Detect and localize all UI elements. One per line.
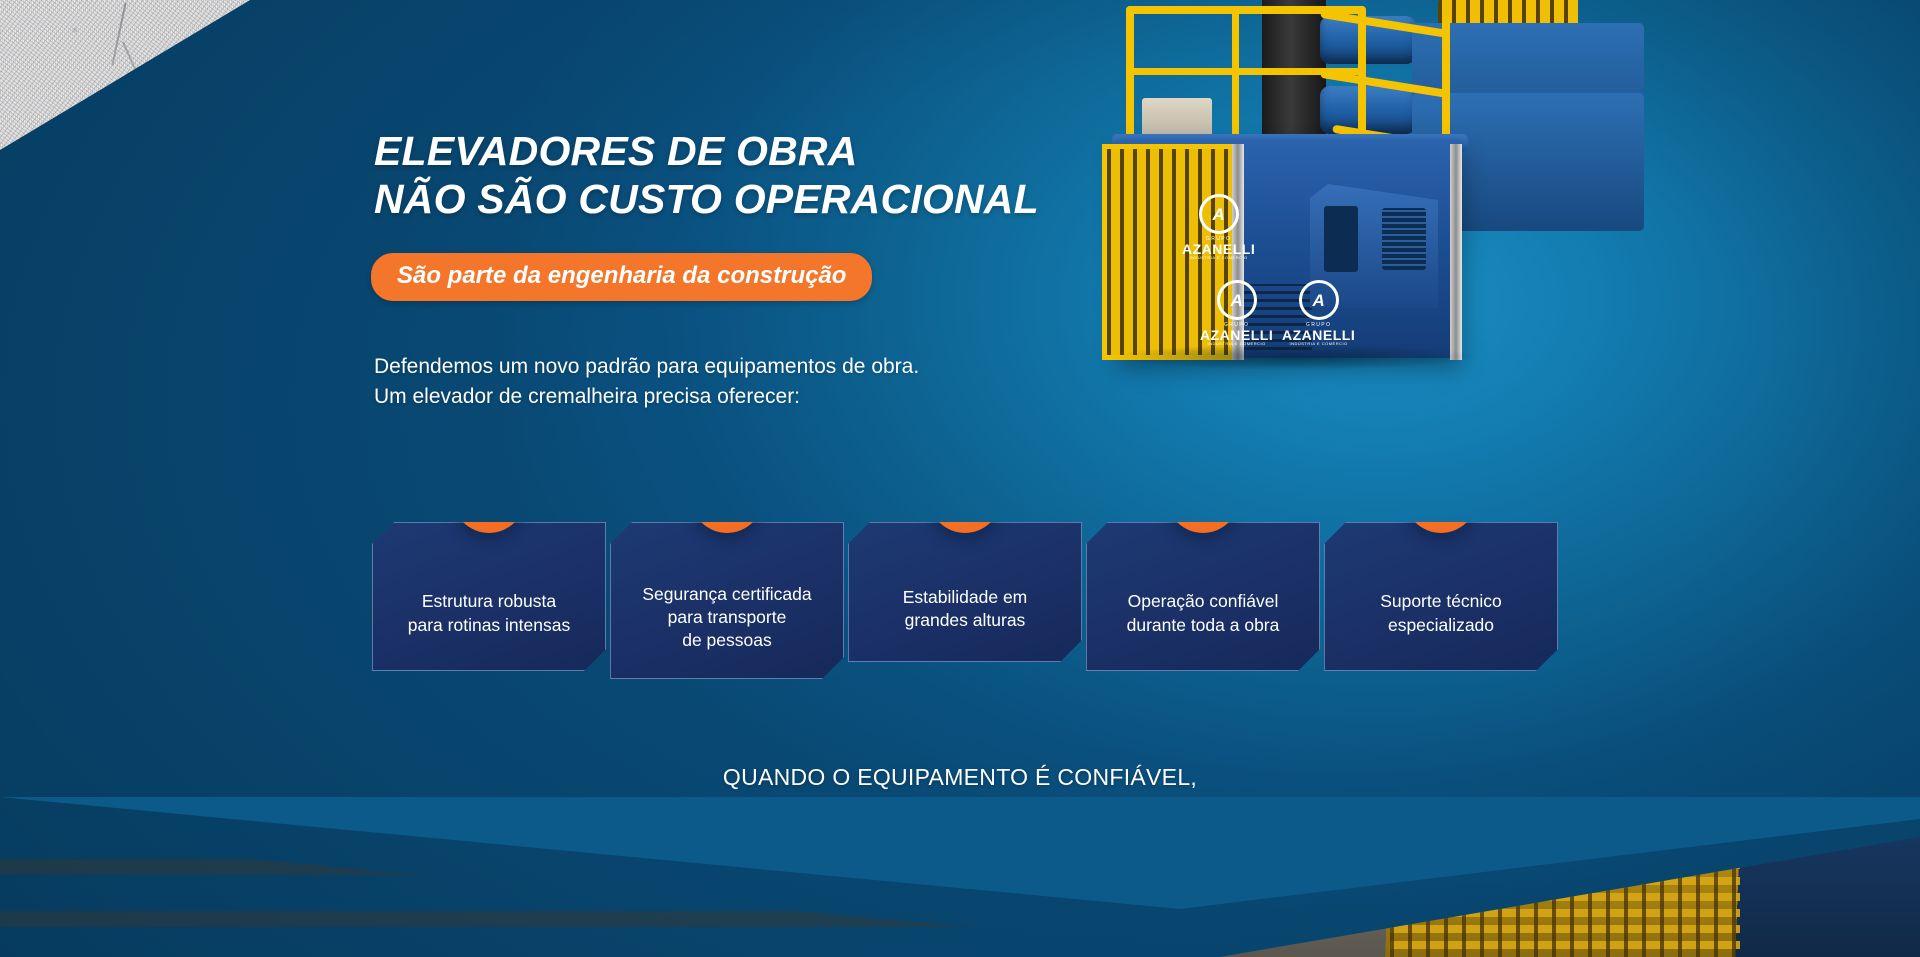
hero-banner: A GRUPO AZANELLI INDÚSTRIA E COMÉRCIO A … [0, 0, 1920, 957]
feature-card-label: Estabilidade em grandes alturas [893, 586, 1038, 633]
feature-card-label: Estrutura robusta para rotinas intensas [398, 590, 580, 637]
feature-card-label: Segurança certificada para transporte de… [632, 583, 821, 653]
feature-card-list: Estrutura robusta para rotinas intensas … [372, 522, 1562, 702]
feature-card-label: Operação confiável durante toda a obra [1117, 590, 1290, 637]
construction-worker-icon [691, 461, 763, 533]
page-title: ELEVADORES DE OBRA NÃO SÃO CUSTO OPERACI… [374, 128, 1039, 224]
feature-card[interactable]: Operação confiável durante toda a obra [1086, 522, 1320, 671]
chain-link-icon [453, 461, 525, 533]
feature-card[interactable]: Estrutura robusta para rotinas intensas [372, 522, 606, 671]
check-circle-icon [1167, 461, 1239, 533]
tagline-badge: São parte da engenharia da construção [371, 253, 872, 301]
chat-gear-support-icon [1405, 461, 1477, 533]
feature-card[interactable]: Segurança certificada para transporte de… [610, 522, 844, 679]
building-tower-icon [929, 461, 1001, 533]
feature-card[interactable]: Estabilidade em grandes alturas [848, 522, 1082, 662]
hero-description: Defendemos um novo padrão para equipamen… [374, 352, 919, 412]
feature-card-label: Suporte técnico especializado [1370, 590, 1512, 637]
footer-headline: QUANDO O EQUIPAMENTO É CONFIÁVEL, [0, 762, 1920, 793]
feature-card[interactable]: Suporte técnico especializado [1324, 522, 1558, 671]
